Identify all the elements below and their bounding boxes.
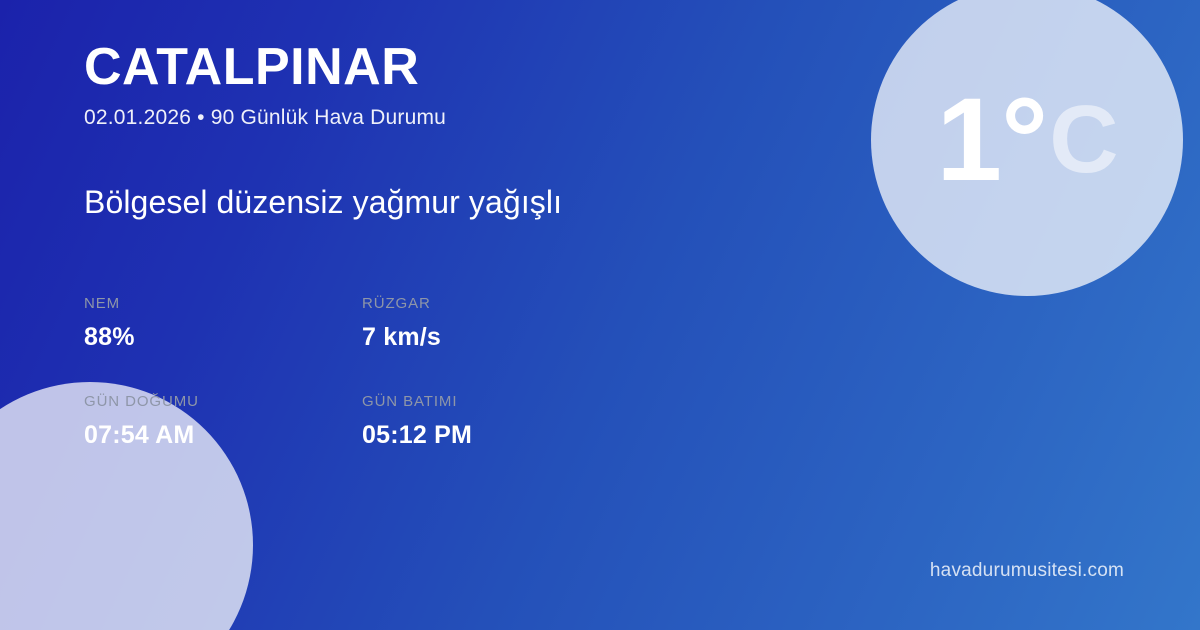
stat-sunset: GÜN BATIMI 05:12 PM	[362, 394, 640, 448]
page-title: CATALPINAR	[84, 38, 446, 96]
stat-humidity-label: NEM	[84, 296, 362, 311]
site-url-watermark: havadurumusitesi.com	[930, 560, 1124, 582]
stat-sunrise: GÜN DOĞUMU 07:54 AM	[84, 394, 362, 448]
stat-wind-value: 7 km/s	[362, 325, 640, 350]
temperature-display: 1°C	[871, 0, 1183, 296]
temperature-value: 1°	[936, 81, 1047, 199]
stat-sunrise-value: 07:54 AM	[84, 423, 362, 448]
weather-stats-grid: NEM 88% RÜZGAR 7 km/s GÜN DOĞUMU 07:54 A…	[84, 296, 704, 448]
stat-sunrise-label: GÜN DOĞUMU	[84, 394, 362, 409]
date-range-subtitle: 02.01.2026 • 90 Günlük Hava Durumu	[84, 106, 446, 130]
temperature-unit: C	[1049, 92, 1117, 188]
stat-wind: RÜZGAR 7 km/s	[362, 296, 640, 350]
stat-wind-label: RÜZGAR	[362, 296, 640, 311]
weather-condition-text: Bölgesel düzensiz yağmur yağışlı	[84, 184, 562, 221]
card-header: CATALPINAR 02.01.2026 • 90 Günlük Hava D…	[84, 38, 446, 130]
stat-sunset-label: GÜN BATIMI	[362, 394, 640, 409]
weather-card: 1°C CATALPINAR 02.01.2026 • 90 Günlük Ha…	[0, 0, 1200, 630]
stat-humidity: NEM 88%	[84, 296, 362, 350]
stat-sunset-value: 05:12 PM	[362, 423, 640, 448]
stat-humidity-value: 88%	[84, 325, 362, 350]
